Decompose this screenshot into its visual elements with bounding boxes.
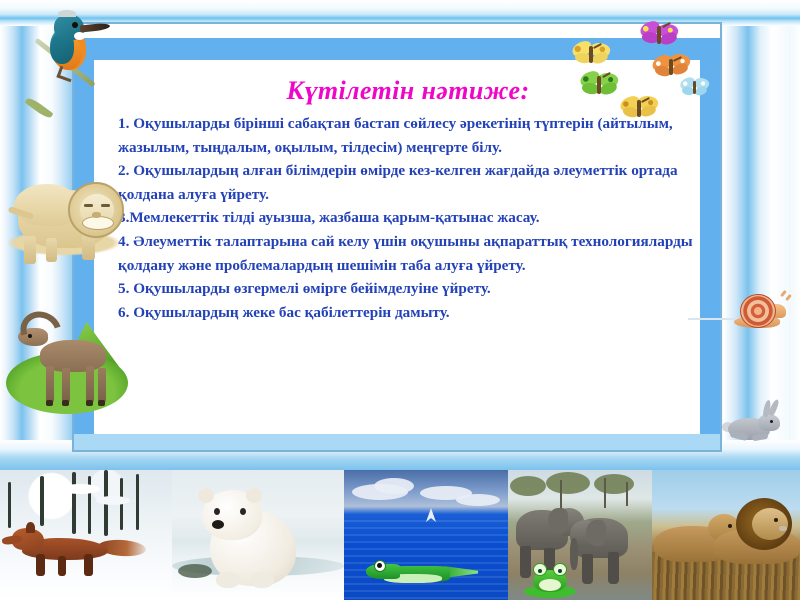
butterfly-yellow-top-icon [572,42,612,70]
frog-pupil [558,569,562,573]
kingfisher-beak [80,22,111,32]
photo-polar-bear-cub [172,470,344,600]
fox-leg [58,556,66,576]
lion-eye [84,204,93,207]
slide-content: Күтілетін нәтиже: 1. Оқушыларды бірінші … [118,76,698,324]
crocodile-pupil [377,563,382,568]
ram-on-hill-icon [6,300,138,430]
branch [626,482,628,506]
frog-icon [524,564,576,598]
snow-clump [96,496,130,505]
lion-nose [779,526,787,531]
lion-head [752,508,788,540]
bear-eye [214,508,220,515]
cloud [456,494,500,506]
frog-pupil [538,569,542,573]
outcome-line-5: 5. Оқушыларды өзгермелі өмірге бейімделу… [118,277,698,301]
lion-eye [101,204,110,207]
snail-icon [730,288,792,334]
elephant-ear [586,520,606,546]
rock [178,564,212,578]
branch [560,480,562,508]
lion-leg [24,236,36,264]
ram-hoof [46,400,53,406]
lion-nose [92,212,101,218]
bear-paw [250,572,274,588]
kingfisher-cheek [74,32,85,40]
bear-nose [212,520,224,529]
slide-canvas: Күтілетін нәтиже: 1. Оқушыларды бірінші … [0,0,800,600]
elephant-leg [608,552,619,584]
bush [546,472,590,494]
photo-red-fox-in-snow [0,470,172,600]
snail-eyestalk [780,290,787,297]
ram-hoof [86,400,93,406]
page-title: Күтілетін нәтиже: [118,76,698,106]
lioness-eye [728,524,732,528]
ram-hoof [62,400,69,406]
snail-trail [688,318,740,320]
photo-elephants [508,470,652,600]
photo-strip [0,470,800,600]
kingfisher-icon [24,8,110,126]
branch [604,478,606,508]
outcome-line-1: 1. Оқушыларды бірінші сабақтан бастап сө… [118,112,698,159]
ram-eye [28,334,32,338]
rabbit-head [758,414,780,431]
outcomes-list: 1. Оқушыларды бірінші сабақтан бастап сө… [118,112,698,324]
bear-eye [240,508,246,515]
lion-illustration-icon [6,168,138,286]
crocodile-icon [366,556,478,586]
elephant-leg [582,554,593,584]
snail-eyestalk [785,294,792,301]
cloud [374,478,414,494]
lion-muzzle [82,216,114,230]
rabbit-eye [770,420,773,423]
frame-band-bottom [74,434,720,450]
bear-ear [246,488,262,503]
reed-leaf [25,96,54,120]
fox-ear [26,522,35,533]
bear-paw [216,572,240,588]
ram-leg [98,368,106,402]
ram-leg [46,366,54,402]
bush [510,476,546,496]
kingfisher-eye [72,22,78,28]
frame-band-top [74,38,720,60]
elephant-ear [548,508,568,534]
frog-belly [539,579,561,591]
rabbit-leg [752,433,769,442]
kingfisher-crest [58,10,76,17]
fox-leg [36,554,45,576]
outcome-line-2: 2. Оқушылардың алған білімдерін өмірде к… [118,159,698,206]
snail-shell [740,294,776,328]
tree-trunk [72,472,76,534]
ram-leg [62,368,70,402]
tree-trunk [136,474,139,530]
snow-clump [60,484,100,494]
tree-trunk [40,476,44,526]
outcome-line-6: 6. Оқушылардың жеке бас қабілеттерін дам… [118,301,698,325]
lion-leg [46,238,57,262]
butterfly-purple-icon [640,22,680,50]
photo-lions [652,470,800,600]
bush [594,474,634,494]
ram-leg [86,366,94,402]
ram-hoof [98,400,105,406]
fox-leg [84,554,93,576]
outcome-line-4: 4. Әлеуметтік талаптарына сай келу үшін … [118,230,698,277]
photo-crocodile-sea [344,470,508,600]
lion-back [14,184,76,226]
bear-ear [198,488,214,503]
outcome-line-3: 3.Мемлекеттік тілді ауызша, жазбаша қары… [118,206,698,230]
lion-eye [774,518,778,522]
tree-trunk [8,482,11,528]
rabbit-icon [718,404,788,448]
